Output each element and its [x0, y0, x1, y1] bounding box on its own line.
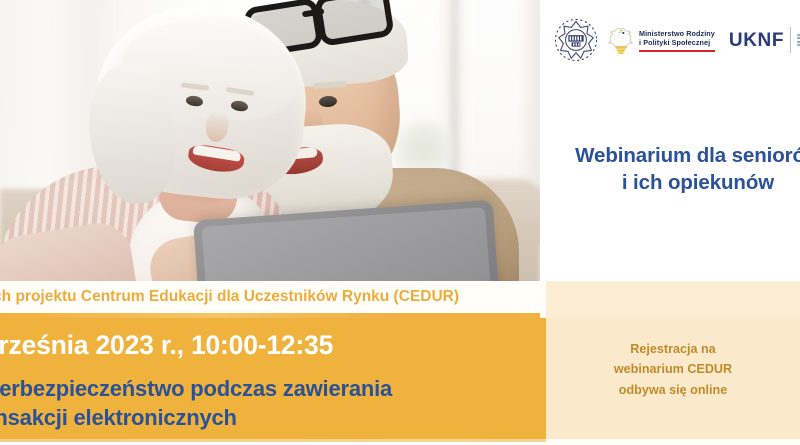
uknf-wordmark: UKNF [729, 31, 784, 50]
cedur-band: ramach projektu Centrum Edukacji dla Ucz… [0, 281, 540, 313]
registration-panel: Rejestracja na webinarium CEDUR odbywa s… [546, 281, 800, 439]
hero-photo [0, 0, 540, 281]
uknf-divider [790, 27, 791, 53]
ministry-line-1: Ministerstwo Rodziny [639, 29, 715, 38]
ministry-line-2: i Polityki Społecznej [639, 38, 715, 47]
polish-eagle-icon [608, 25, 634, 55]
event-topic: yberbezpieczeństwo podczas zawierania ra… [0, 374, 614, 433]
cedur-band-text: ramach projektu Centrum Edukacji dla Ucz… [0, 288, 459, 306]
ministry-logo: Ministerstwo Rodziny i Polityki Społeczn… [608, 25, 715, 55]
ministry-red-rule [639, 50, 715, 52]
uknf-logo: UKNF [729, 27, 800, 53]
ministry-wordmark: Ministerstwo Rodziny i Polityki Społeczn… [639, 29, 715, 52]
police-badge-icon [554, 18, 598, 62]
event-details-panel: września 2023 r., 10:00-12:35 yberbezpie… [0, 318, 546, 439]
registration-panel-top [546, 281, 800, 318]
webinar-poster: Ministerstwo Rodziny i Polityki Społeczn… [0, 0, 800, 445]
poster-headline: Webinarium dla seniorów i ich opiekunów [564, 142, 800, 197]
registration-text: Rejestracja na webinarium CEDUR odbywa s… [564, 339, 782, 400]
header-panel: Ministerstwo Rodziny i Polityki Społeczn… [540, 0, 800, 281]
bottom-strip-orange [0, 439, 546, 442]
bottom-strip [0, 439, 800, 445]
tablet-screen [202, 207, 491, 281]
event-date: września 2023 r., 10:00-12:35 [0, 330, 333, 361]
logo-row: Ministerstwo Rodziny i Polityki Społeczn… [554, 16, 800, 64]
